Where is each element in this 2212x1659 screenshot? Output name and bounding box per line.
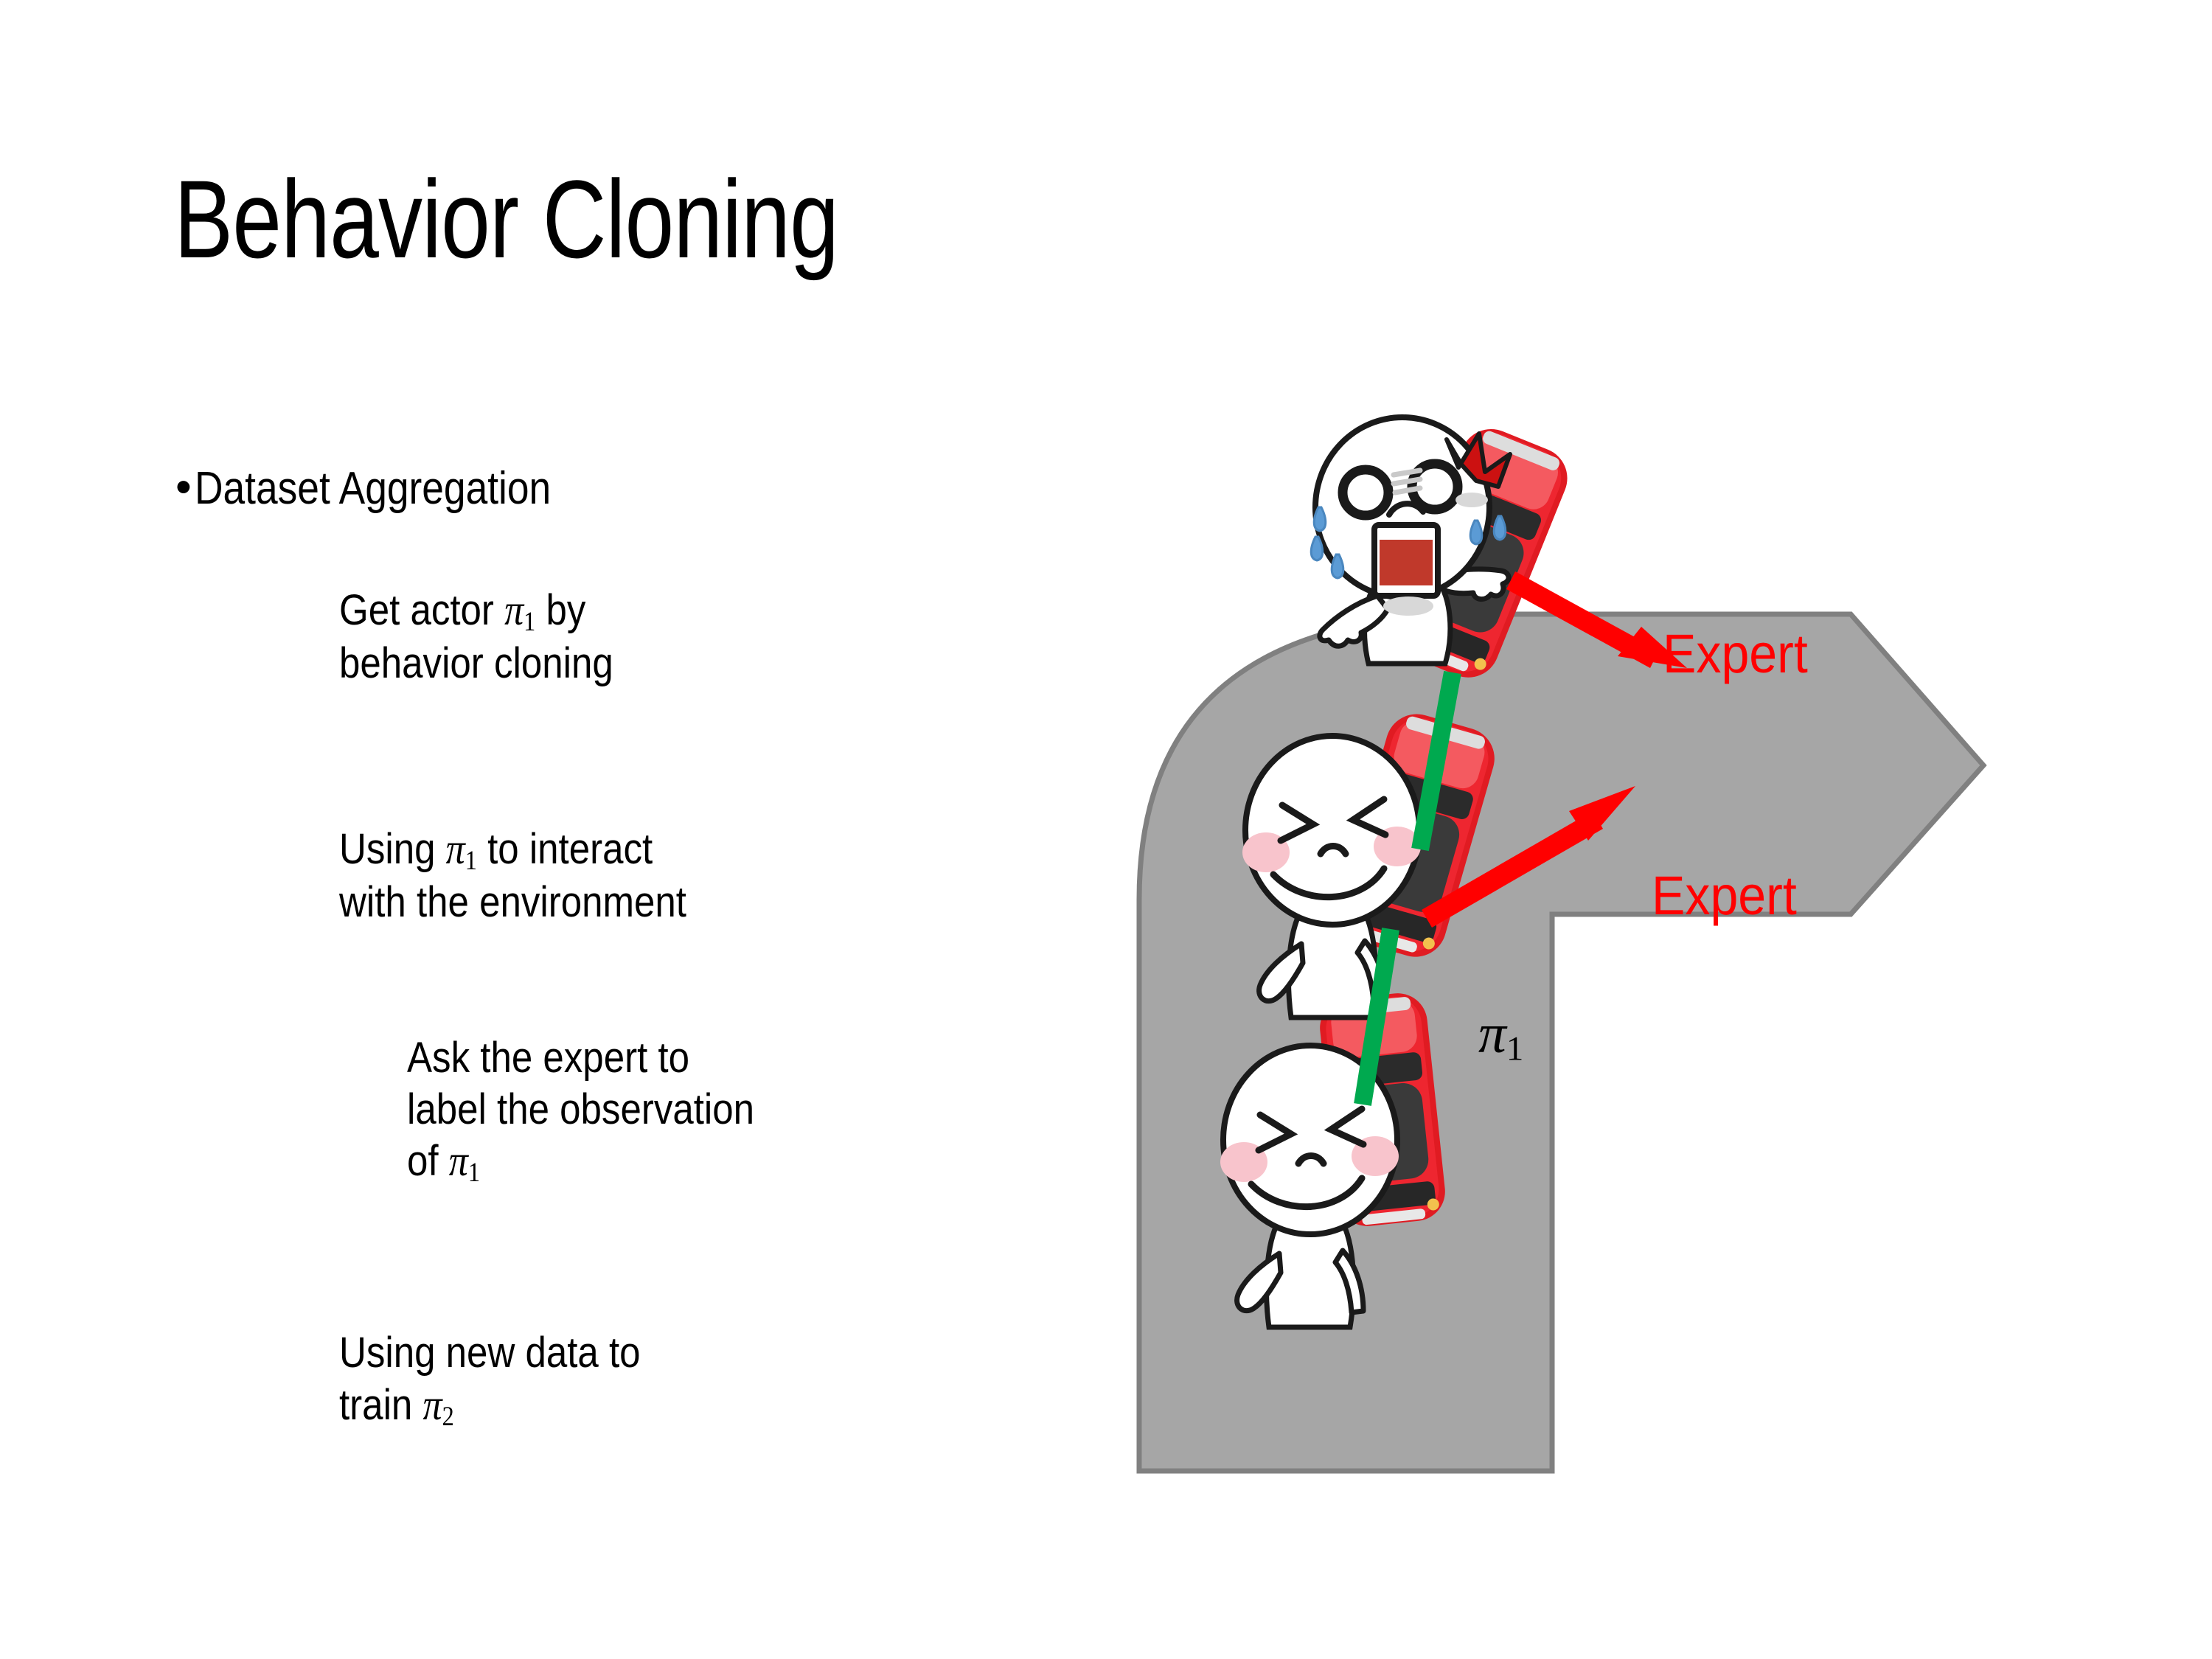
pi-subscript: 2 [442,1401,454,1431]
line-text-post: to interact [477,825,653,873]
pi-symbol: π1 [1478,1004,1523,1065]
sub-line: Using π1 to interact [339,823,686,877]
sub-block-using-pi1-interact: Using π1 to interact with the environmen… [339,823,686,928]
sub-block-using-new-data: Using new data to train π2 [339,1327,641,1433]
body-text-column: • Dataset Aggregation Get actor π1 by be… [0,0,1091,1659]
expert-label-middle: Expert [1652,869,1797,923]
bullet-label-dataset-aggregation: Dataset Aggregation [195,465,551,514]
pi-subscript: 1 [1506,1029,1523,1068]
bullet-marker-icon: • [175,465,195,510]
pi-symbol: π1 [446,824,477,873]
annotations-layer [1069,442,2175,1534]
pi-symbol: π2 [422,1380,453,1429]
sub-line: with the environment [339,877,686,928]
expert-arrow-top [1506,571,1687,668]
line-text-pre: of [407,1137,449,1185]
trajectory-label-pi1: π1 [1478,1006,1523,1066]
trajectory-pi1 [1363,672,1453,1105]
pi-subscript: 1 [468,1157,480,1187]
pi-glyph: π [504,585,524,634]
line-text-pre: train [339,1381,422,1429]
line-text-pre: Using [339,825,446,873]
sub-line: label the observation [407,1084,754,1135]
sub-block-get-actor: Get actor π1 by behavior cloning [339,584,613,689]
line-text-pre: with the environment [339,878,686,926]
sub-line: of π1 [407,1135,754,1189]
pi-symbol: π1 [449,1136,480,1185]
expert-arrow-middle [1422,786,1635,928]
line-text-pre: behavior cloning [339,639,613,687]
driving-scenario-diagram: Expert Expert π1 [1069,442,2175,1534]
pi-glyph: π [446,824,465,873]
pi-symbol: π1 [504,585,535,634]
pi-glyph: π [422,1380,442,1429]
sub-block-ask-expert-label: Ask the expert to label the observation … [407,1032,754,1189]
bullet-item-dataset-aggregation: • Dataset Aggregation [175,465,609,514]
line-text-pre: Get actor [339,586,504,634]
sub-line: train π2 [339,1379,641,1433]
pi-subscript: 1 [465,845,477,875]
sub-line: Using new data to [339,1327,641,1379]
sub-line: Get actor π1 by [339,584,613,638]
line-text-pre: Using new data to [339,1329,641,1377]
pi-subscript: 1 [524,606,535,636]
expert-label-top: Expert [1663,627,1808,681]
line-text-pre: Ask the expert to [407,1034,689,1082]
pi-glyph: π [449,1136,468,1185]
sub-line: behavior cloning [339,638,613,689]
pi-glyph: π [1478,1004,1506,1065]
line-text-post: by [535,586,585,634]
line-text-pre: label the observation [407,1085,754,1133]
sub-line: Ask the expert to [407,1032,754,1084]
